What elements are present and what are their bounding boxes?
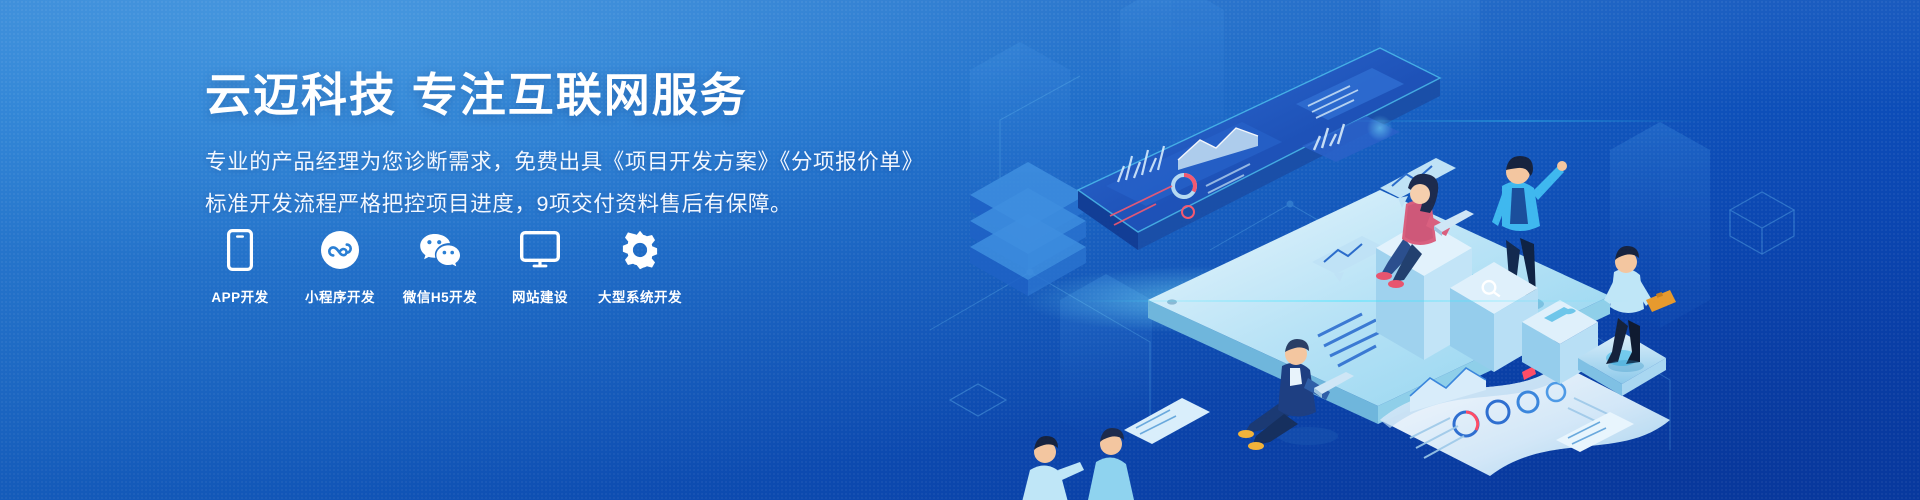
service-label: 小程序开发 [305, 286, 375, 306]
illustration-artwork [910, 0, 1920, 500]
subtitle-line-2: 标准开发流程严格把控项目进度，9项交付资料售后有保障。 [205, 188, 905, 220]
hero-banner: 云迈科技 专注互联网服务 专业的产品经理为您诊断需求，免费出具《项目开发方案》《… [0, 0, 1920, 500]
page-title: 云迈科技 专注互联网服务 [205, 68, 905, 122]
mini-program-icon [320, 228, 360, 272]
hero-subtitle: 专业的产品经理为您诊断需求，免费出具《项目开发方案》《分项报价单》 标准开发流程… [205, 146, 905, 220]
mobile-phone-icon [227, 228, 253, 272]
monitor-icon [520, 228, 560, 272]
service-item-wechat-h5[interactable]: 微信H5开发 [403, 228, 477, 306]
wechat-icon [418, 228, 462, 272]
service-item-miniprogram[interactable]: 小程序开发 [303, 228, 377, 306]
service-item-large-system[interactable]: 大型系统开发 [603, 228, 677, 306]
service-label: 微信H5开发 [403, 286, 477, 306]
hero-copy: 云迈科技 专注互联网服务 专业的产品经理为您诊断需求，免费出具《项目开发方案》《… [205, 68, 905, 229]
gear-icon [620, 228, 660, 272]
subtitle-line-1: 专业的产品经理为您诊断需求，免费出具《项目开发方案》《分项报价单》 [205, 146, 905, 178]
service-item-app[interactable]: APP开发 [203, 228, 277, 306]
service-label: 网站建设 [512, 286, 568, 306]
service-label: 大型系统开发 [598, 286, 682, 306]
service-item-website[interactable]: 网站建设 [503, 228, 577, 306]
service-label: APP开发 [211, 286, 268, 306]
service-list: APP开发 小程序开发 [203, 228, 677, 306]
